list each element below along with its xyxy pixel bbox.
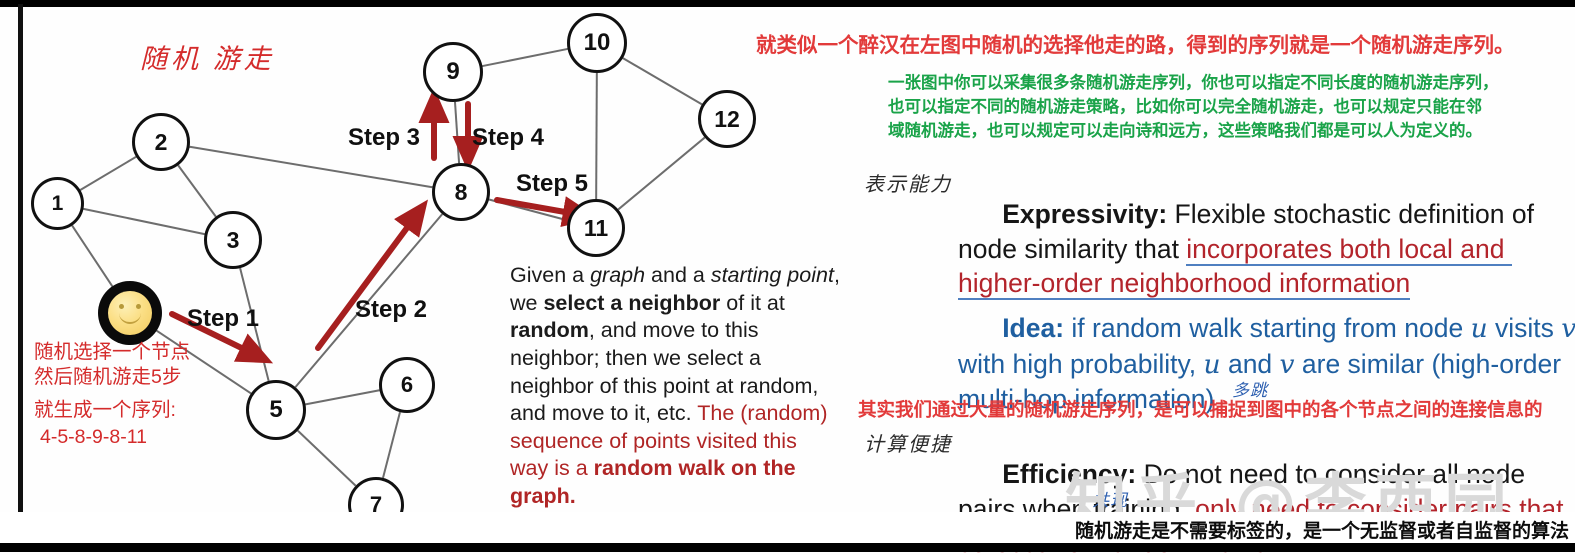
right-green-note: 一张图中你可以采集很多条随机游走序列，你也可以指定不同长度的随机游走序列， 也可… — [888, 72, 1499, 144]
bottom-caption-text: 随机游走是不需要标签的，是一个无监督或者自监督的算法 — [1075, 516, 1569, 543]
idea-var-u2: u — [1204, 349, 1221, 380]
mid-p1-select: select a neighbor — [543, 291, 720, 315]
graph-node-6[interactable]: 6 — [379, 357, 435, 413]
graph-node-label: 8 — [455, 179, 468, 206]
mid-p1-graph: graph — [590, 263, 645, 287]
graph-edge-2-3 — [178, 165, 216, 216]
graph-title-handwritten: 随机 游走 — [140, 42, 275, 77]
graph-edge-11-12 — [618, 138, 704, 210]
idea-seg-2: visits — [1488, 313, 1562, 343]
mid-p1-starting: starting point — [711, 263, 834, 287]
graph-edge-1-3 — [83, 209, 204, 234]
expressivity-label: Expressivity: — [1002, 199, 1167, 229]
step-label-3: Step 3 — [348, 124, 420, 152]
idea-var-v1: v — [1561, 313, 1575, 344]
smiley-eye-left — [119, 304, 124, 309]
slide-bottom-rule — [0, 543, 1575, 552]
graph-node-label: 10 — [584, 29, 611, 57]
graph-node-label: 11 — [584, 215, 608, 242]
slide-canvas: 12356789101112 Step 1Step 2Step 3Step 4S… — [0, 0, 1575, 555]
graph-node-2[interactable]: 2 — [132, 113, 190, 171]
graph-node-label: 9 — [446, 58, 459, 86]
graph-annotation-sequence-label: 就生成一个序列: — [34, 398, 176, 423]
graph-edge-2-8 — [190, 147, 433, 187]
right-red-top-note: 就类似一个醉汉在左图中随机的选择他走的路，得到的序列就是一个随机游走序列。 — [756, 28, 1515, 58]
idea-seg-4: and — [1221, 349, 1280, 379]
graph-node-label: 6 — [401, 372, 413, 398]
hand-note-expressivity: 表示能力 — [864, 168, 952, 197]
graph-node-label: 5 — [269, 396, 282, 424]
graph-node-4-smiley[interactable] — [98, 281, 162, 345]
mid-p1-b: and a — [645, 263, 711, 287]
smiley-eye-right — [136, 304, 141, 309]
graph-edge-1-4 — [72, 226, 112, 287]
idea-label: Idea: — [1002, 313, 1064, 343]
graph-node-9[interactable]: 9 — [423, 42, 483, 102]
idea-seg-1: if random walk starting from node — [1064, 313, 1471, 343]
smiley-face-icon — [108, 291, 152, 335]
graph-edge-9-10 — [482, 49, 567, 66]
mid-p1-random: random — [510, 318, 589, 342]
graph-node-12[interactable]: 12 — [698, 90, 756, 148]
smiley-mouth — [119, 310, 141, 324]
graph-node-5[interactable]: 5 — [246, 380, 306, 440]
graph-node-3[interactable]: 3 — [204, 211, 262, 269]
graph-edge-10-12 — [623, 58, 702, 104]
step-label-2: Step 2 — [355, 296, 427, 324]
graph-edge-5-6 — [305, 390, 379, 404]
idea-var-u1: u — [1471, 313, 1488, 344]
mid-p1-d: of it at — [720, 291, 785, 315]
idea-var-v2: v — [1280, 349, 1295, 380]
step-label-1: Step 1 — [187, 305, 259, 333]
graph-annotation-sequence-value: 4-5-8-9-8-11 — [40, 425, 147, 450]
graph-edge-6-7 — [383, 412, 400, 478]
graph-node-label: 12 — [714, 106, 740, 133]
graph-node-label: 3 — [227, 227, 240, 254]
hand-note-efficiency: 计算便捷 — [864, 428, 952, 457]
graph-node-1[interactable]: 1 — [31, 177, 84, 230]
graph-annotation-select-node: 随机选择一个节点 然后随机游走5步 — [34, 340, 190, 390]
graph-edge-1-2 — [80, 157, 136, 190]
graph-edge-8-9 — [455, 102, 459, 163]
graph-edge-10-11 — [596, 73, 597, 199]
graph-node-label: 1 — [52, 192, 64, 216]
step-label-5: Step 5 — [516, 170, 588, 198]
graph-node-8[interactable]: 8 — [432, 163, 490, 221]
graph-node-10[interactable]: 10 — [567, 13, 627, 73]
right-red-mid-note: 其实我们通过大量的随机游走序列，是可以捕捉到图中的各个节点之间的连接信息的 — [858, 396, 1543, 422]
middle-description: Given a graph and a starting point, we s… — [510, 262, 840, 511]
mid-p1-a: Given a — [510, 263, 590, 287]
graph-node-11[interactable]: 11 — [567, 199, 625, 257]
graph-node-label: 2 — [155, 129, 168, 156]
graph-edge-5-7 — [298, 431, 356, 486]
step-label-4: Step 4 — [472, 124, 544, 152]
